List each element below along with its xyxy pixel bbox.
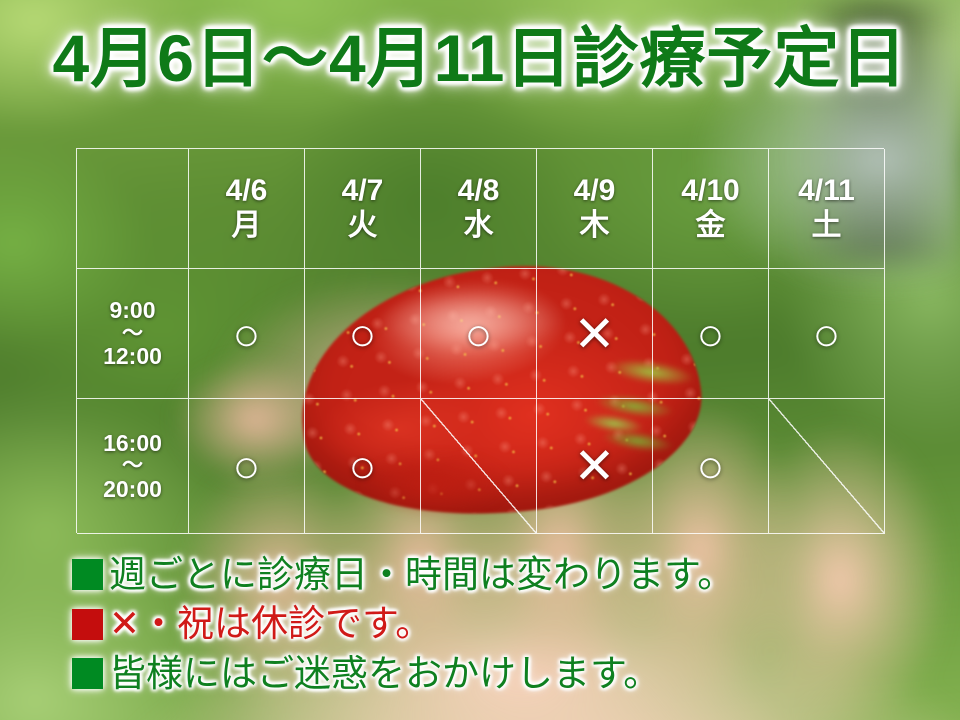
column-date: 4/6 bbox=[226, 175, 268, 207]
open-mark: ○ bbox=[349, 311, 377, 357]
red-square-icon bbox=[72, 609, 103, 640]
column-header-0: 4/6 月 bbox=[189, 149, 305, 269]
column-header-2: 4/8 水 bbox=[421, 149, 537, 269]
column-header-5: 4/11 土 bbox=[769, 149, 885, 269]
time-tilde: 〜 bbox=[122, 456, 143, 476]
page-title: 4月6日〜4月11日診療予定日 bbox=[0, 24, 960, 93]
column-header-3: 4/9 木 bbox=[537, 149, 653, 269]
open-mark: ○ bbox=[697, 311, 725, 357]
schedule-cell-morning-5: ○ bbox=[769, 269, 885, 399]
open-mark: ○ bbox=[813, 311, 841, 357]
column-header-1: 4/7 火 bbox=[305, 149, 421, 269]
column-weekday: 金 bbox=[696, 209, 726, 243]
open-mark: ○ bbox=[233, 443, 261, 489]
note-item-2: 皆様にはご迷惑をおかけします。 bbox=[72, 650, 932, 697]
schedule-cell-morning-1: ○ bbox=[305, 269, 421, 399]
schedule-cell-morning-3: ✕ bbox=[537, 269, 653, 399]
column-weekday: 月 bbox=[232, 209, 262, 243]
note-item-1: ✕・祝は休診です。 bbox=[72, 600, 932, 647]
schedule-cell-evening-4: ○ bbox=[653, 399, 769, 534]
schedule-cell-morning-4: ○ bbox=[653, 269, 769, 399]
schedule-cell-evening-5 bbox=[769, 399, 885, 534]
open-mark: ○ bbox=[697, 443, 725, 489]
row-header-evening: 16:00 〜 20:00 bbox=[77, 399, 189, 534]
schedule-table: 4/6 月 4/7 火 4/8 水 4/9 木 4/10 金 4/11 土 9:… bbox=[76, 148, 884, 533]
notes-list: 週ごとに診療日・時間は変わります。 ✕・祝は休診です。 皆様にはご迷惑をおかけし… bbox=[72, 551, 932, 699]
time-end: 12:00 bbox=[103, 344, 162, 368]
schedule-cell-evening-1: ○ bbox=[305, 399, 421, 534]
schedule-cell-evening-0: ○ bbox=[189, 399, 305, 534]
open-mark: ○ bbox=[349, 443, 377, 489]
note-item-0: 週ごとに診療日・時間は変わります。 bbox=[72, 551, 932, 598]
time-end: 20:00 bbox=[103, 477, 162, 501]
schedule-cell-evening-3: ✕ bbox=[537, 399, 653, 534]
open-mark: ○ bbox=[233, 311, 261, 357]
note-text: ✕・祝は休診です。 bbox=[109, 600, 432, 647]
time-tilde: 〜 bbox=[122, 324, 143, 344]
column-weekday: 火 bbox=[348, 209, 378, 243]
time-start: 9:00 bbox=[109, 298, 155, 322]
open-mark: ○ bbox=[465, 311, 493, 357]
column-date: 4/7 bbox=[342, 175, 384, 207]
schedule-cell-evening-2 bbox=[421, 399, 537, 534]
column-date: 4/11 bbox=[798, 175, 855, 207]
column-date: 4/10 bbox=[681, 175, 739, 207]
note-text: 週ごとに診療日・時間は変わります。 bbox=[109, 551, 734, 598]
note-text: 皆様にはご迷惑をおかけします。 bbox=[109, 650, 660, 697]
column-header-4: 4/10 金 bbox=[653, 149, 769, 269]
column-weekday: 土 bbox=[812, 209, 842, 243]
green-square-icon bbox=[72, 658, 103, 689]
schedule-poster: 4月6日〜4月11日診療予定日 4/6 月 4/7 火 4/8 水 4/9 木 … bbox=[0, 0, 960, 720]
time-start: 16:00 bbox=[103, 431, 162, 455]
column-weekday: 水 bbox=[464, 209, 494, 243]
column-date: 4/8 bbox=[458, 175, 500, 207]
schedule-cell-morning-0: ○ bbox=[189, 269, 305, 399]
row-header-morning: 9:00 〜 12:00 bbox=[77, 269, 189, 399]
column-weekday: 木 bbox=[580, 209, 610, 243]
closed-mark: ✕ bbox=[574, 441, 616, 491]
table-corner-cell bbox=[77, 149, 189, 269]
green-square-icon bbox=[72, 559, 103, 590]
closed-mark: ✕ bbox=[574, 309, 616, 359]
column-date: 4/9 bbox=[574, 175, 616, 207]
schedule-cell-morning-2: ○ bbox=[421, 269, 537, 399]
